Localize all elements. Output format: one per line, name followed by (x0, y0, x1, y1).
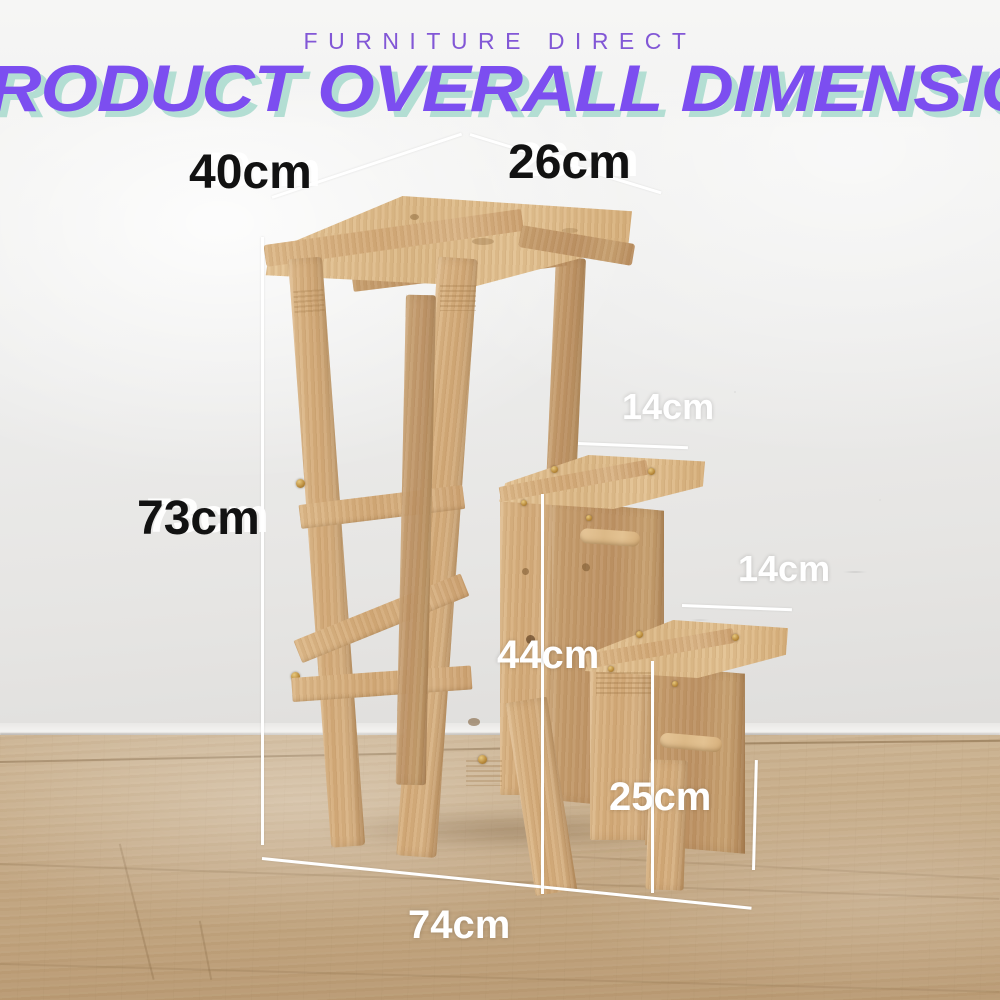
dimension-label-73cm: 73cm (137, 491, 260, 546)
upper-step-screw (551, 466, 558, 473)
dimension-label-14cm-upper: 14cm (622, 386, 714, 428)
dimension-label-14cm-lower: 14cm (738, 548, 830, 590)
page-title: PRODUCT OVERALL DIMENSION (0, 50, 1000, 126)
upper-step-screw (586, 515, 592, 521)
lower-step-screw (672, 681, 678, 687)
finger-joint (440, 285, 476, 311)
dimension-label-74cm: 74cm (408, 903, 510, 948)
header-banner: FURNITURE DIRECT PRODUCT OVERALL DIMENSI… (0, 0, 1000, 128)
upper-step-screw (521, 500, 527, 506)
dimension-label-25cm: 25cm (609, 775, 711, 820)
dimension-label-40cm: 40cm (189, 145, 312, 200)
lower-step-screw (636, 631, 643, 638)
finger-joint (596, 672, 652, 694)
dimension-line-44cm (541, 494, 544, 894)
upper-step-screw (648, 468, 655, 475)
leg-screw (478, 755, 487, 764)
wood-knot (468, 718, 480, 726)
product-dimension-infographic: 40cm 40cm 26cm 26cm 73cm 73cm 14cm 14cm … (0, 0, 1000, 1000)
lower-step-screw (732, 634, 739, 641)
leg-screw (296, 479, 305, 488)
finger-joint (293, 289, 325, 315)
finger-joint (466, 760, 502, 786)
dimension-label-26cm: 26cm (508, 135, 631, 190)
dimension-label-44cm: 44cm (497, 633, 599, 678)
